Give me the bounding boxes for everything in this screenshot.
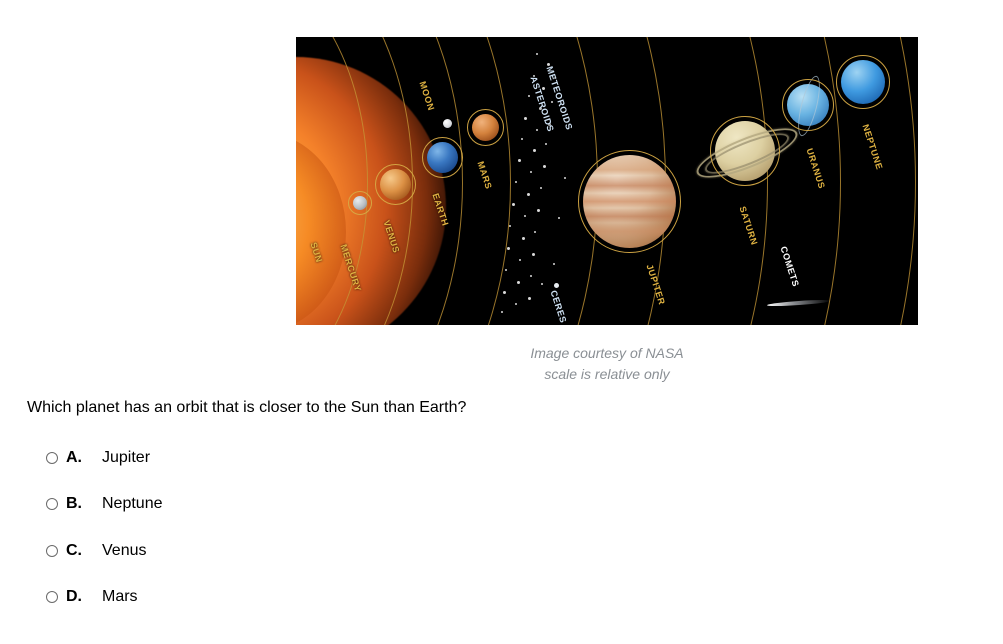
option-b-text: Neptune — [102, 495, 163, 513]
earth-orbit-ring-icon — [422, 137, 463, 178]
planet-uranus — [787, 84, 829, 126]
planet-neptune — [841, 60, 885, 104]
radio-button-c[interactable] — [46, 545, 58, 557]
option-d-letter: D. — [66, 588, 102, 606]
planet-mercury — [353, 196, 367, 210]
radio-button-d[interactable] — [46, 591, 58, 603]
uranus-orbit-ring-icon — [782, 79, 834, 131]
option-b[interactable]: B. Neptune — [46, 495, 163, 514]
planet-earth — [427, 142, 458, 173]
dwarf-planet-ceres — [554, 283, 559, 288]
option-a-text: Jupiter — [102, 449, 150, 467]
solar-system-image: MERCURY VENUS MOON EARTH MARS — [296, 37, 918, 325]
option-c-text: Venus — [102, 542, 146, 560]
option-c-letter: C. — [66, 542, 102, 560]
answer-options: A. Jupiter B. Neptune C. Venus D. Mars — [46, 448, 163, 634]
planet-moon — [443, 119, 452, 128]
mercury-orbit-ring-icon — [348, 191, 372, 215]
neptune-orbit-ring-icon — [836, 55, 890, 109]
venus-orbit-ring-icon — [375, 164, 416, 205]
question-text: Which planet has an orbit that is closer… — [27, 399, 466, 417]
option-a[interactable]: A. Jupiter — [46, 448, 163, 467]
image-caption: Image courtesy of NASA scale is relative… — [296, 343, 918, 385]
saturn-orbit-ring-icon — [710, 116, 780, 186]
radio-button-a[interactable] — [46, 452, 58, 464]
caption-line-1: Image courtesy of NASA — [296, 343, 918, 364]
planet-mars — [472, 114, 499, 141]
caption-line-2: scale is relative only — [296, 364, 918, 385]
option-a-letter: A. — [66, 449, 102, 467]
planet-venus — [380, 169, 411, 200]
option-d-text: Mars — [102, 588, 138, 606]
figure-block: MERCURY VENUS MOON EARTH MARS — [296, 37, 918, 385]
jupiter-orbit-ring-icon — [578, 150, 681, 253]
option-b-letter: B. — [66, 495, 102, 513]
option-d[interactable]: D. Mars — [46, 588, 163, 607]
option-c[interactable]: C. Venus — [46, 541, 163, 560]
planet-saturn — [715, 121, 775, 181]
radio-button-b[interactable] — [46, 498, 58, 510]
mars-orbit-ring-icon — [467, 109, 504, 146]
planet-jupiter — [583, 155, 676, 248]
